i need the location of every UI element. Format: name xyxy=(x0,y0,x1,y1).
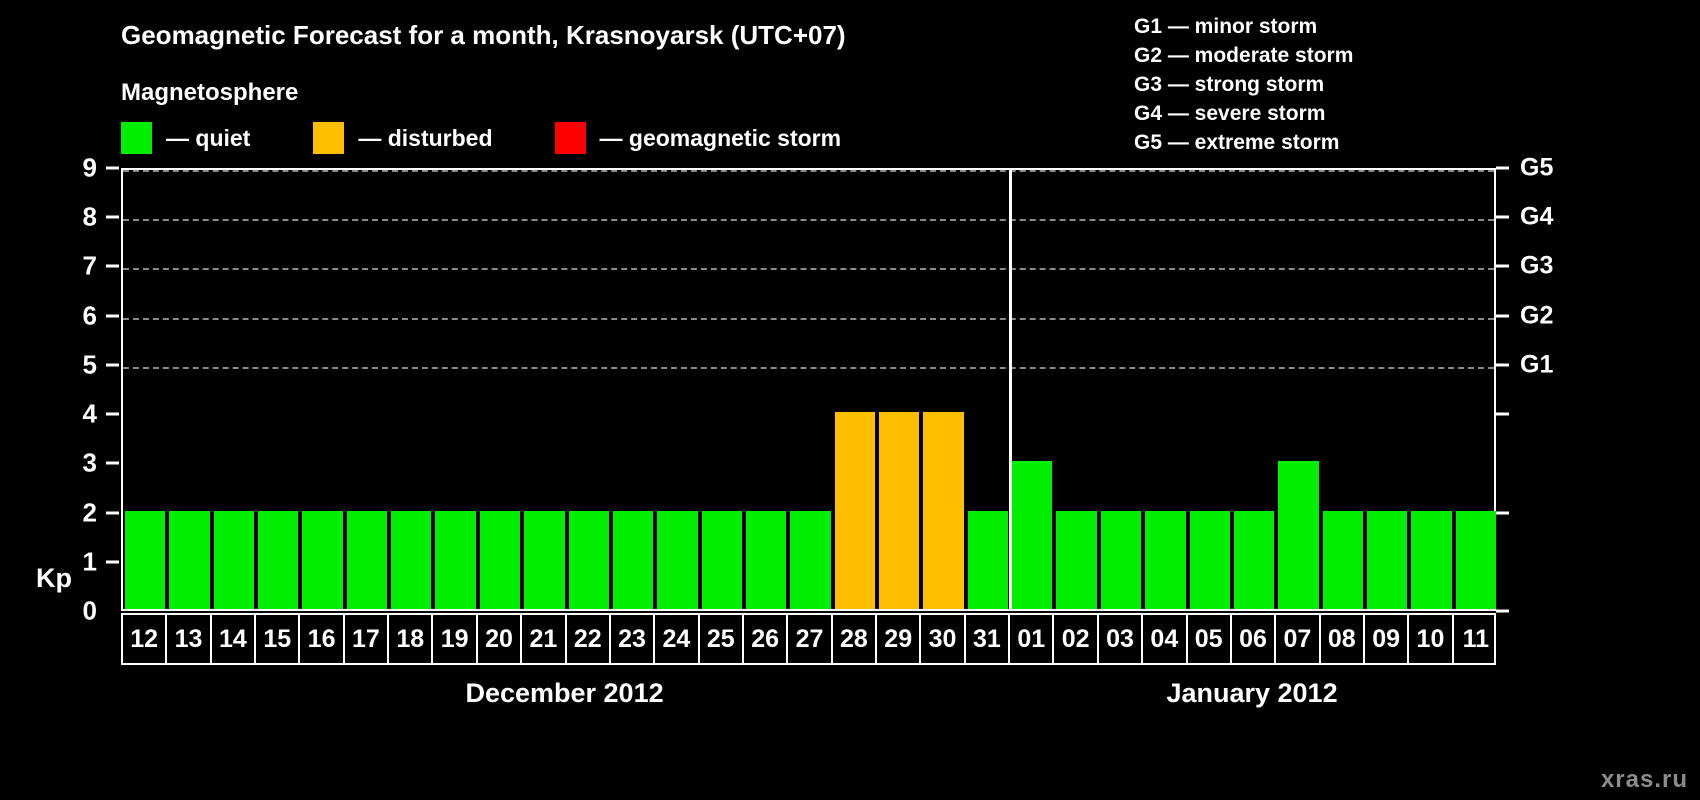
day-label-13: 13 xyxy=(167,615,211,663)
bar-19 xyxy=(435,511,475,609)
bar-03 xyxy=(1101,511,1141,609)
month-caption: December 2012 xyxy=(121,678,1008,709)
day-label-23: 23 xyxy=(611,615,655,663)
kp-tick-mark-1 xyxy=(106,560,119,563)
bar-24 xyxy=(657,511,697,609)
g-axis-minor-tick-4 xyxy=(1496,413,1509,416)
day-label-22: 22 xyxy=(567,615,611,663)
plot-area xyxy=(121,168,1496,611)
g-tick-mark-G4 xyxy=(1496,216,1509,219)
bar-28 xyxy=(835,412,875,609)
geomagnetic-forecast-chart: Geomagnetic Forecast for a month, Krasno… xyxy=(0,0,1700,800)
kp-axis-title: Kp xyxy=(36,563,72,594)
g-tick-label-G1: G1 xyxy=(1520,350,1553,379)
bar-26 xyxy=(746,511,786,609)
g-axis-minor-tick-0 xyxy=(1496,610,1509,613)
day-label-08: 08 xyxy=(1321,615,1365,663)
day-label-02: 02 xyxy=(1054,615,1098,663)
day-label-20: 20 xyxy=(478,615,522,663)
bar-13 xyxy=(169,511,209,609)
day-label-10: 10 xyxy=(1409,615,1453,663)
kp-tick-mark-4 xyxy=(106,413,119,416)
bar-04 xyxy=(1145,511,1185,609)
g-scale-key-row: G2 — moderate storm xyxy=(1134,41,1353,70)
day-label-11: 11 xyxy=(1454,615,1498,663)
legend: — quiet — disturbed — geomagnetic storm xyxy=(121,122,841,154)
kp-tick-label-5: 5 xyxy=(83,349,97,380)
bar-27 xyxy=(790,511,830,609)
day-label-25: 25 xyxy=(700,615,744,663)
kp-tick-label-1: 1 xyxy=(83,546,97,577)
kp-tick-label-6: 6 xyxy=(83,300,97,331)
day-label-19: 19 xyxy=(433,615,477,663)
day-label-27: 27 xyxy=(788,615,832,663)
kp-tick-mark-6 xyxy=(106,314,119,317)
bar-23 xyxy=(613,511,653,609)
day-label-09: 09 xyxy=(1365,615,1409,663)
kp-tick-label-2: 2 xyxy=(83,497,97,528)
bar-02 xyxy=(1056,511,1096,609)
watermark: xras.ru xyxy=(1601,766,1688,794)
g-tick-mark-G1 xyxy=(1496,363,1509,366)
day-label-01: 01 xyxy=(1010,615,1054,663)
kp-tick-label-0: 0 xyxy=(83,596,97,627)
g-scale-key-row: G3 — strong storm xyxy=(1134,70,1353,99)
day-label-12: 12 xyxy=(123,615,167,663)
legend-swatch-disturbed-icon xyxy=(313,122,344,154)
kp-axis: Kp 0123456789 xyxy=(0,168,121,611)
day-label-14: 14 xyxy=(212,615,256,663)
day-label-29: 29 xyxy=(877,615,921,663)
g-tick-label-G4: G4 xyxy=(1520,203,1553,232)
day-label-26: 26 xyxy=(744,615,788,663)
legend-item-disturbed: — disturbed xyxy=(313,122,492,154)
legend-item-quiet: — quiet xyxy=(121,122,250,154)
kp-tick-mark-2 xyxy=(106,511,119,514)
month-caption: January 2012 xyxy=(1008,678,1496,709)
day-label-05: 05 xyxy=(1188,615,1232,663)
g-tick-label-G3: G3 xyxy=(1520,252,1553,281)
day-label-31: 31 xyxy=(966,615,1010,663)
g-scale-key-row: G4 — severe storm xyxy=(1134,99,1353,128)
bar-06 xyxy=(1234,511,1274,609)
g-scale-axis: G1G2G3G4G5 xyxy=(1496,168,1700,611)
g-tick-label-G5: G5 xyxy=(1520,154,1553,183)
kp-tick-mark-3 xyxy=(106,462,119,465)
kp-tick-label-7: 7 xyxy=(83,251,97,282)
day-label-16: 16 xyxy=(300,615,344,663)
day-label-07: 07 xyxy=(1276,615,1320,663)
bar-09 xyxy=(1367,511,1407,609)
page-title: Geomagnetic Forecast for a month, Krasno… xyxy=(121,20,846,51)
bar-07 xyxy=(1278,461,1318,609)
day-label-24: 24 xyxy=(655,615,699,663)
bar-15 xyxy=(258,511,298,609)
day-label-15: 15 xyxy=(256,615,300,663)
bar-21 xyxy=(524,511,564,609)
kp-tick-mark-5 xyxy=(106,363,119,366)
legend-label-disturbed: — disturbed xyxy=(358,125,492,152)
bar-16 xyxy=(302,511,342,609)
bar-10 xyxy=(1411,511,1451,609)
g-tick-label-G2: G2 xyxy=(1520,301,1553,330)
legend-item-storm: — geomagnetic storm xyxy=(555,122,842,154)
kp-tick-label-4: 4 xyxy=(83,399,97,430)
day-label-03: 03 xyxy=(1099,615,1143,663)
kp-tick-mark-9 xyxy=(106,167,119,170)
bar-30 xyxy=(923,412,963,609)
magnetosphere-label: Magnetosphere xyxy=(121,79,298,107)
g-axis-minor-tick-2 xyxy=(1496,511,1509,514)
bar-25 xyxy=(702,511,742,609)
g-scale-key-row: G5 — extreme storm xyxy=(1134,128,1353,157)
day-label-21: 21 xyxy=(522,615,566,663)
g-tick-mark-G3 xyxy=(1496,265,1509,268)
legend-swatch-quiet-icon xyxy=(121,122,152,154)
g-tick-mark-G5 xyxy=(1496,167,1509,170)
day-label-30: 30 xyxy=(921,615,965,663)
g-scale-key-row: G1 — minor storm xyxy=(1134,12,1353,41)
g-scale-key: G1 — minor storm G2 — moderate storm G3 … xyxy=(1134,12,1353,157)
day-label-04: 04 xyxy=(1143,615,1187,663)
bar-29 xyxy=(879,412,919,609)
day-label-28: 28 xyxy=(833,615,877,663)
kp-tick-label-8: 8 xyxy=(83,202,97,233)
day-label-strip: 1213141516171819202122232425262728293031… xyxy=(121,613,1496,665)
day-label-18: 18 xyxy=(389,615,433,663)
g-tick-mark-G2 xyxy=(1496,314,1509,317)
kp-tick-label-3: 3 xyxy=(83,448,97,479)
bar-11 xyxy=(1456,511,1496,609)
kp-tick-mark-8 xyxy=(106,216,119,219)
legend-label-storm: — geomagnetic storm xyxy=(600,125,842,152)
day-label-06: 06 xyxy=(1232,615,1276,663)
bar-14 xyxy=(214,511,254,609)
bar-05 xyxy=(1190,511,1230,609)
bar-12 xyxy=(125,511,165,609)
bar-08 xyxy=(1323,511,1363,609)
bar-31 xyxy=(968,511,1008,609)
legend-label-quiet: — quiet xyxy=(166,125,250,152)
kp-tick-label-9: 9 xyxy=(83,153,97,184)
bar-20 xyxy=(480,511,520,609)
kp-tick-mark-7 xyxy=(106,265,119,268)
day-label-17: 17 xyxy=(345,615,389,663)
bar-18 xyxy=(391,511,431,609)
bar-17 xyxy=(347,511,387,609)
bar-22 xyxy=(569,511,609,609)
bar-01 xyxy=(1012,461,1052,609)
bar-series xyxy=(123,170,1494,609)
legend-swatch-storm-icon xyxy=(555,122,586,154)
